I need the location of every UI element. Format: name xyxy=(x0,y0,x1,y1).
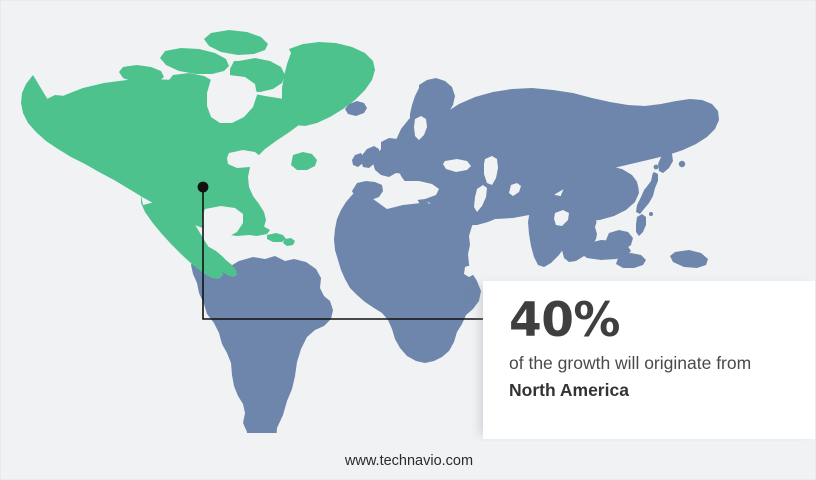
island-dot-3 xyxy=(649,212,653,216)
footer-bar: www.technavio.com xyxy=(1,441,816,480)
region-new-guinea xyxy=(670,250,708,268)
island-dot-8 xyxy=(589,110,593,114)
map-region-north-america[interactable] xyxy=(21,30,375,279)
growth-description: of the growth will originate from North … xyxy=(509,350,791,404)
region-iberia xyxy=(352,181,383,200)
island-dot-2 xyxy=(654,165,659,170)
growth-description-prefix: of the growth will originate from xyxy=(509,353,751,373)
region-arctic-islands-1 xyxy=(160,48,229,74)
region-ireland xyxy=(352,153,364,167)
island-dot-9 xyxy=(533,103,538,108)
island-dot-1 xyxy=(679,161,685,167)
region-hispaniola xyxy=(267,233,286,242)
region-borneo xyxy=(606,230,633,251)
island-dot-5 xyxy=(706,107,710,111)
region-philippines xyxy=(636,214,646,236)
region-africa xyxy=(334,189,481,363)
growth-region-name: North America xyxy=(509,380,629,400)
island-dot-6 xyxy=(567,115,571,119)
growth-callout-card: 40% of the growth will originate from No… xyxy=(483,281,816,439)
region-indonesia-2 xyxy=(616,253,646,268)
island-dot-7 xyxy=(610,118,615,123)
region-arctic-islands-2 xyxy=(204,30,268,55)
source-url: www.technavio.com xyxy=(1,441,816,480)
island-dot-4 xyxy=(641,221,645,225)
growth-percentage-value: 40% xyxy=(509,297,791,344)
region-newfoundland xyxy=(291,152,317,170)
technavio-market-share-map: 40% of the growth will originate from No… xyxy=(0,0,816,480)
